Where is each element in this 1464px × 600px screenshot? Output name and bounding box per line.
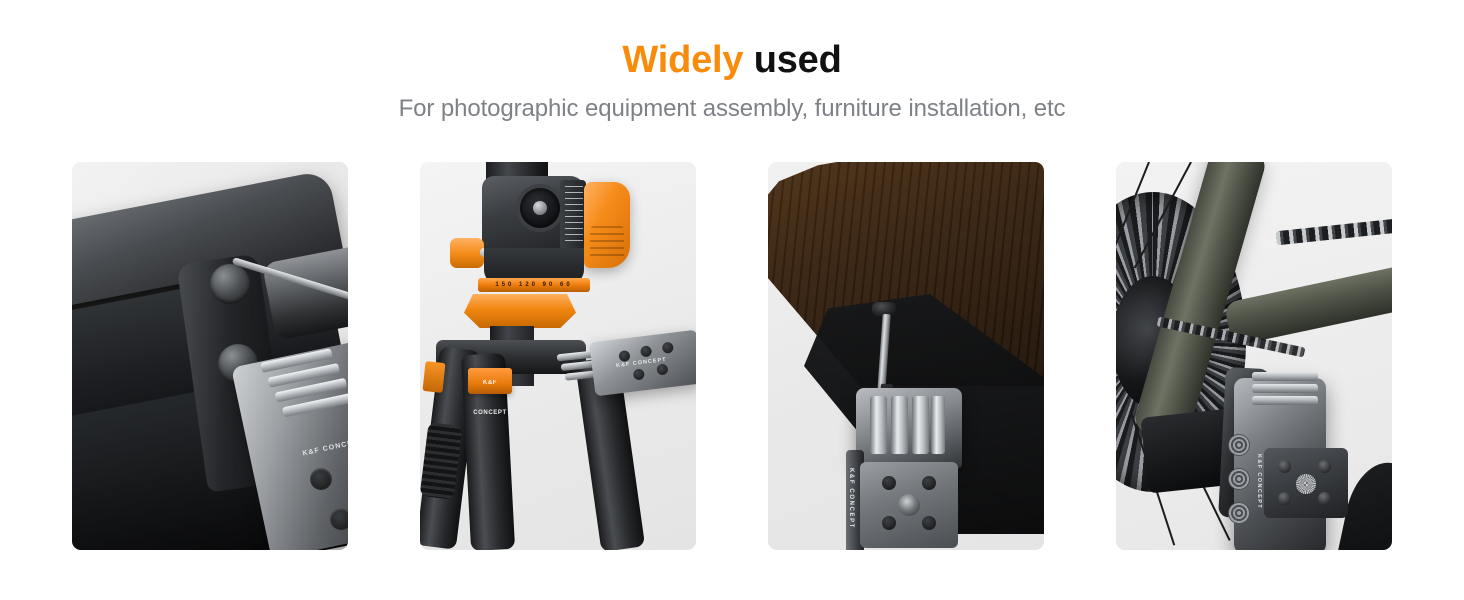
plate-mounting-hole <box>662 342 674 354</box>
plate-mounting-hole <box>882 516 896 530</box>
plate-thread-port <box>1228 502 1250 524</box>
tool-bit <box>1252 384 1318 393</box>
plate-mounting-hole <box>633 368 645 380</box>
leg-lock-brand-label: K&F CONCEPT <box>468 368 512 394</box>
bicycle-chain-upper <box>1276 217 1392 246</box>
orange-locking-handle <box>584 182 630 268</box>
tool-bit <box>931 396 945 454</box>
multitool-body <box>856 388 962 468</box>
usage-photo-bicycle-cassette[interactable]: K&F CONCEPT <box>1116 162 1392 550</box>
usage-photo-furniture-table[interactable]: K&F CONCEPT <box>768 162 1044 550</box>
plate-mounting-hole <box>640 345 652 357</box>
plate-mounting-hole <box>1278 492 1291 505</box>
product-usage-gallery: K&F CONCEPT 150 120 90 60 <box>72 162 1392 550</box>
side-tension-knob <box>450 238 484 268</box>
panning-degree-marks: 150 120 90 60 <box>478 278 590 292</box>
title-rest-word: used <box>743 39 841 81</box>
tilt-scale-ticks <box>565 186 583 244</box>
adjustment-knob-upper <box>210 264 250 304</box>
plate-mounting-hole <box>330 508 348 530</box>
plate-mounting-hole <box>882 476 896 490</box>
tool-bit <box>1252 372 1318 381</box>
usage-photo-tripod-ball-head[interactable]: 150 120 90 60 K&F CONCEPT <box>420 162 696 550</box>
photo-scene-tripod: 150 120 90 60 K&F CONCEPT <box>420 162 696 550</box>
plate-center-thread <box>898 494 920 516</box>
panning-degree-ring: 150 120 90 60 <box>478 278 590 292</box>
photo-scene-camera-plate: K&F CONCEPT <box>72 162 348 550</box>
tool-bit <box>912 396 929 454</box>
banner-header: Widely used For photographic equipment a… <box>0 36 1464 125</box>
title-accent-word: Widely <box>622 39 743 81</box>
multitool-bit-set <box>868 396 948 458</box>
tool-bit <box>870 396 887 454</box>
kf-concept-brand-mark: K&F CONCEPT <box>1256 454 1262 509</box>
plate-thread-port <box>1228 434 1250 456</box>
tool-bit <box>891 396 908 454</box>
plate-mounting-hole <box>922 476 936 490</box>
tool-bit <box>1252 396 1318 405</box>
plate-thread-port <box>1228 468 1250 490</box>
plate-mounting-hole <box>922 516 936 530</box>
page-subtitle: For photographic equipment assembly, fur… <box>0 93 1464 125</box>
photo-scene-bicycle: K&F CONCEPT <box>1116 162 1392 550</box>
usage-photo-camera-plate[interactable]: K&F CONCEPT <box>72 162 348 550</box>
multitool-bit-set <box>1252 370 1324 416</box>
plate-mounting-hole <box>618 350 630 362</box>
orange-pan-base <box>464 294 576 328</box>
multitool-base-plate <box>860 462 958 548</box>
plate-center-thread <box>1296 474 1316 494</box>
plate-mounting-hole <box>310 468 332 490</box>
bicycle-chain-stay <box>1224 262 1392 347</box>
plate-mounting-hole <box>1318 460 1331 473</box>
plate-mounting-hole <box>1278 460 1291 473</box>
ball-head-socket <box>520 188 560 228</box>
leg-angle-lock <box>422 361 445 393</box>
photo-scene-table: K&F CONCEPT <box>768 162 1044 550</box>
plate-mounting-hole <box>656 363 668 375</box>
plate-mounting-hole <box>1318 492 1331 505</box>
page-title: Widely used <box>0 36 1464 84</box>
tripod-leg-lock-tab: K&F CONCEPT <box>468 368 512 394</box>
kf-concept-brand-mark: K&F CONCEPT <box>848 468 854 529</box>
widely-used-banner: Widely used For photographic equipment a… <box>0 0 1464 600</box>
multitool-base-plate <box>1264 448 1348 518</box>
